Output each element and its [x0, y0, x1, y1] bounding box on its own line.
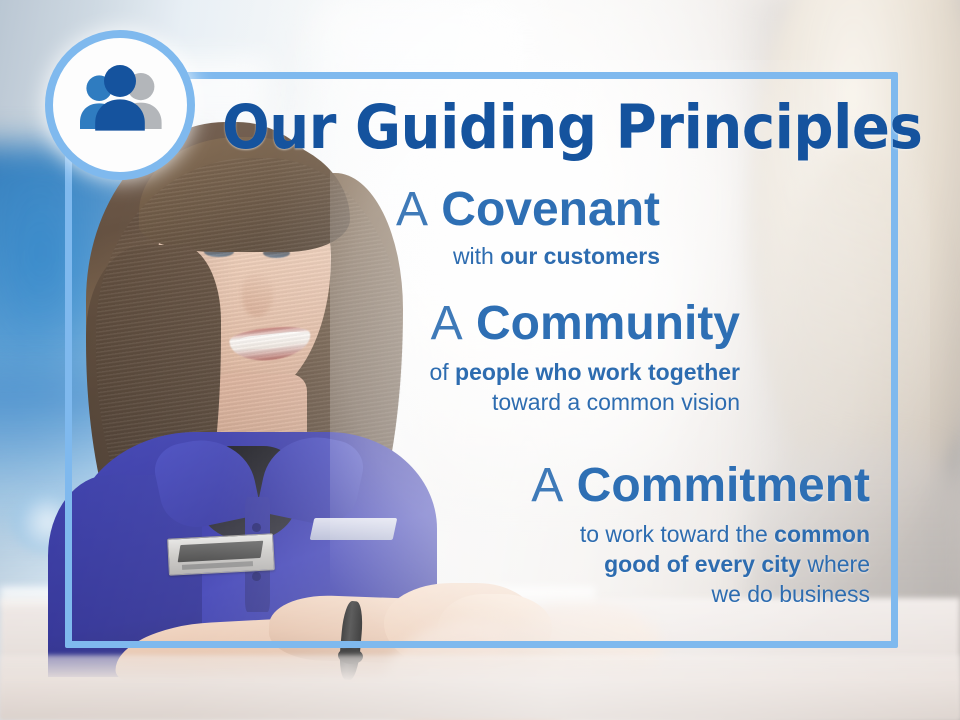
principle-word: Community — [476, 297, 740, 350]
principle-heading: A Covenant — [300, 186, 660, 235]
subtext-line: with our customers — [300, 242, 660, 272]
subtext-line: to work toward the common — [300, 520, 870, 550]
principle-subtext: of people who work together toward a com… — [300, 358, 740, 418]
principle-word: Commitment — [577, 459, 870, 512]
principle-lede: A — [396, 183, 428, 236]
page-title: Our Guiding Principles — [222, 92, 922, 163]
subtext-line: toward a common vision — [300, 388, 740, 418]
principle-word: Covenant — [441, 183, 660, 236]
principle-subtext: to work toward the common good of every … — [300, 520, 870, 610]
principle-heading: A Commitment — [300, 462, 870, 511]
principle-heading: A Community — [300, 300, 740, 349]
subtext-line: of people who work together — [300, 358, 740, 388]
subtext-line: we do business — [300, 580, 870, 610]
flyer-text: Our Guiding Principles A Covenant with o… — [0, 0, 960, 720]
principle-lede: A — [531, 459, 563, 512]
principle-community: A Community of people who work together … — [300, 300, 740, 418]
principle-commitment: A Commitment to work toward the common g… — [300, 462, 870, 610]
principle-covenant: A Covenant with our customers — [300, 186, 660, 272]
principle-lede: A — [431, 297, 463, 350]
subtext-line: good of every city where — [300, 550, 870, 580]
principle-subtext: with our customers — [300, 242, 660, 272]
